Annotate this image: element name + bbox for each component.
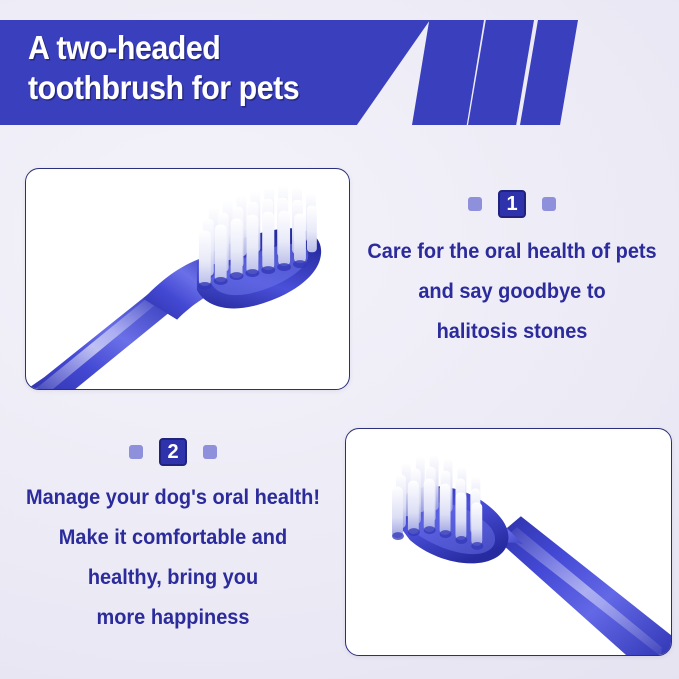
feature-block-2: 2 Manage your dog's oral health! Make it… xyxy=(8,438,338,638)
decorative-square-left-icon xyxy=(129,445,143,459)
toothbrush-photo-panel-1 xyxy=(25,168,350,390)
feature-block-1: 1 Care for the oral health of pets and s… xyxy=(352,190,672,352)
step-number-badge-1: 1 xyxy=(498,190,526,218)
toothbrush-photo-panel-2 xyxy=(345,428,672,656)
badge-row-1: 1 xyxy=(352,190,672,218)
decorative-square-right-icon xyxy=(542,197,556,211)
toothbrush-illustration-large xyxy=(26,169,349,389)
header-banner: A two-headed toothbrush for pets xyxy=(0,20,679,125)
badge-row-2: 2 xyxy=(8,438,338,466)
decorative-square-right-icon xyxy=(203,445,217,459)
feature-text-1: Care for the oral health of pets and say… xyxy=(360,232,664,352)
decorative-square-left-icon xyxy=(468,197,482,211)
page-title: A two-headed toothbrush for pets xyxy=(28,28,299,108)
toothbrush-illustration-small xyxy=(346,429,671,655)
feature-text-2: Manage your dog's oral health! Make it c… xyxy=(16,478,330,638)
step-number-badge-2: 2 xyxy=(159,438,187,466)
